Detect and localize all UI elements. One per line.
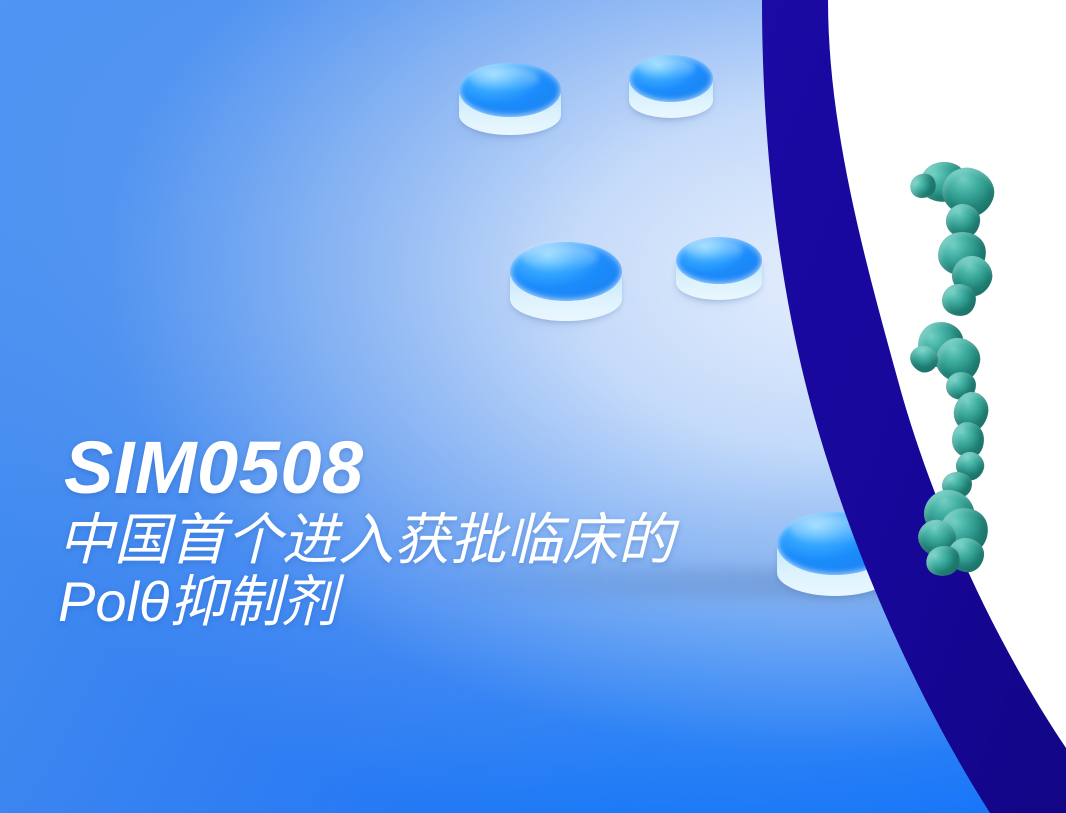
page-subtitle: 中国首个进入获批临床的 Polθ抑制剂 — [58, 509, 888, 634]
tablet-2 — [625, 52, 717, 124]
tablet-4 — [672, 234, 766, 306]
tablet-gloss — [470, 67, 538, 90]
title-block: SIM0508 中国首个进入获批临床的 Polθ抑制剂 — [58, 432, 888, 634]
protein-structure — [890, 160, 1020, 580]
tablet-3 — [505, 238, 627, 328]
tablet-7 — [968, 628, 1066, 712]
tablet-gloss — [983, 635, 1051, 659]
tablet-gloss — [638, 58, 695, 78]
page-title: SIM0508 — [64, 432, 888, 505]
poster-canvas: SIM0508 中国首个进入获批临床的 Polθ抑制剂 — [0, 0, 1066, 813]
tablet-1 — [455, 60, 565, 142]
tablet-gloss — [685, 240, 743, 260]
